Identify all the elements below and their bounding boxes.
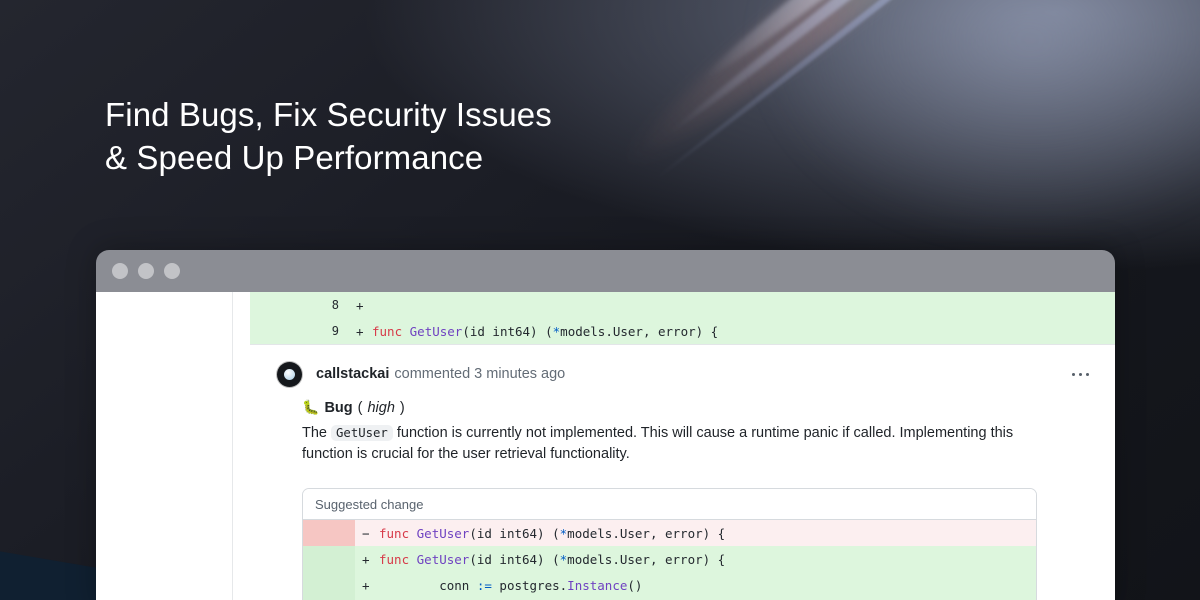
avatar [277,362,302,387]
suggested-change-header: Suggested change [303,489,1036,520]
severity-line: 🐛 Bug (high) [302,399,1093,416]
comment-header: callstackai commented 3 minutes ago [277,363,1093,385]
page-side-gap [233,292,250,600]
hero-headline: Find Bugs, Fix Security Issues & Speed U… [105,93,552,179]
maximize-icon[interactable] [164,263,180,279]
diff-hunk-top: 8 + 9 + func GetUser(id int64) (*models.… [250,292,1115,345]
severity-type: Bug [324,400,352,416]
suggestion-row-added: + conn := postgres.Instance() [303,572,1036,598]
suggestion-row-deleted: − func GetUser(id int64) (*models.User, … [303,520,1036,546]
comment-timestamp: commented 3 minutes ago [394,366,565,382]
severity-paren-close: ) [400,400,405,416]
bug-icon: 🐛 [302,399,319,416]
more-options-icon[interactable] [1068,367,1093,382]
pull-request-content: 8 + 9 + func GetUser(id int64) (*models.… [250,292,1115,600]
comment-body-part1: The [302,425,331,441]
browser-viewport: 8 + 9 + func GetUser(id int64) (*models.… [96,292,1115,600]
diff-row: 9 + func GetUser(id int64) (*models.User… [250,318,1115,344]
suggestion-gutter [303,546,355,572]
diff-line-number: 8 [250,298,350,312]
suggestion-gutter [303,572,355,598]
browser-titlebar [96,250,1115,292]
close-icon[interactable] [112,263,128,279]
diff-sign: + [350,324,372,339]
page-side-rail [96,292,233,600]
diff-line-number: 9 [250,324,350,338]
comment-body-part2: function is currently not implemented. T… [302,425,1013,462]
suggestion-sign: + [355,552,379,567]
diff-sign: + [350,298,372,313]
inline-code-getuser: GetUser [331,425,393,441]
suggestion-row-added: + func GetUser(id int64) (*models.User, … [303,546,1036,572]
suggestion-code: conn := postgres.Instance() [379,578,642,593]
suggestion-code: func GetUser(id int64) (*models.User, er… [379,552,725,567]
suggestion-sign: + [355,578,379,593]
severity-level: high [367,400,394,416]
severity-paren-open: ( [358,400,363,416]
browser-window: 8 + 9 + func GetUser(id int64) (*models.… [96,250,1115,600]
suggestion-sign: − [355,526,379,541]
suggestion-code: func GetUser(id int64) (*models.User, er… [379,526,725,541]
diff-row: 8 + [250,292,1115,318]
comment-body: The GetUser function is currently not im… [302,423,1027,465]
suggestion-gutter [303,520,355,546]
suggested-change-box: Suggested change − func GetUser(id int64… [302,488,1037,600]
comment-author[interactable]: callstackai [316,366,389,382]
diff-code: func GetUser(id int64) (*models.User, er… [372,324,718,339]
minimize-icon[interactable] [138,263,154,279]
review-comment: callstackai commented 3 minutes ago 🐛 Bu… [250,345,1115,600]
